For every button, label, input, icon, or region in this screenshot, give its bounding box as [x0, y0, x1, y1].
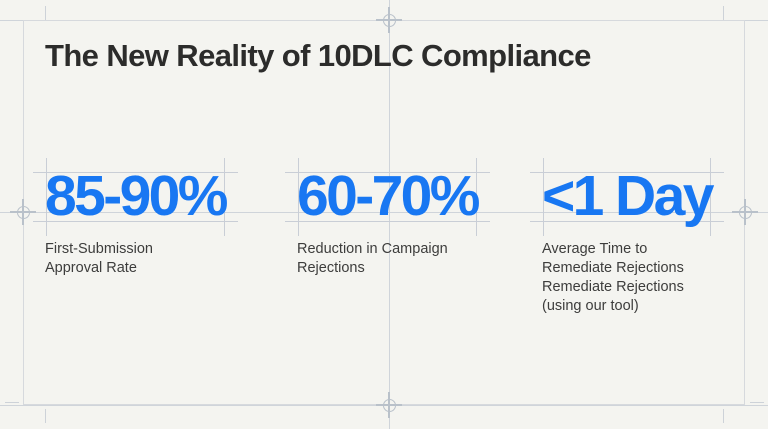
stat-value: 60-70% [297, 160, 478, 232]
stat-value-bounding-box: 60-70% [297, 160, 478, 232]
guide-tick-top-right [723, 6, 724, 20]
guide-tick-top-left [45, 6, 46, 20]
stat-value: 85-90% [45, 160, 226, 232]
guide-rule-bottom [0, 405, 768, 406]
guide-tick-bot-left [45, 409, 46, 423]
guide-rule-top [0, 20, 768, 21]
slide-canvas: The New Reality of 10DLC Compliance 85-9… [0, 0, 768, 429]
stat-block-approval-rate: 85-90% First-Submission Approval Rate [45, 160, 293, 278]
page-title: The New Reality of 10DLC Compliance [45, 38, 591, 74]
guide-tick-bot-right [723, 409, 724, 423]
stat-block-remediation-time: <1 Day Average Time to Remediate Rejecti… [542, 160, 745, 316]
crosshair-anchor-icon [383, 14, 396, 27]
stat-label: First-Submission Approval Rate [45, 240, 293, 278]
stat-value-bounding-box: <1 Day [542, 160, 712, 232]
crosshair-anchor-icon [17, 206, 30, 219]
stat-value: <1 Day [542, 160, 712, 232]
stat-label: Average Time to Remediate Rejections Rem… [542, 240, 745, 316]
stats-row: 85-90% First-Submission Approval Rate 60… [45, 160, 745, 360]
guide-tick-left-bot [5, 402, 19, 403]
stat-label: Reduction in Campaign Rejections [297, 240, 541, 278]
guide-tick-right-bot [750, 402, 764, 403]
stat-value-bounding-box: 85-90% [45, 160, 226, 232]
stat-block-rejection-reduction: 60-70% Reduction in Campaign Rejections [297, 160, 541, 278]
crosshair-anchor-icon [383, 399, 396, 412]
